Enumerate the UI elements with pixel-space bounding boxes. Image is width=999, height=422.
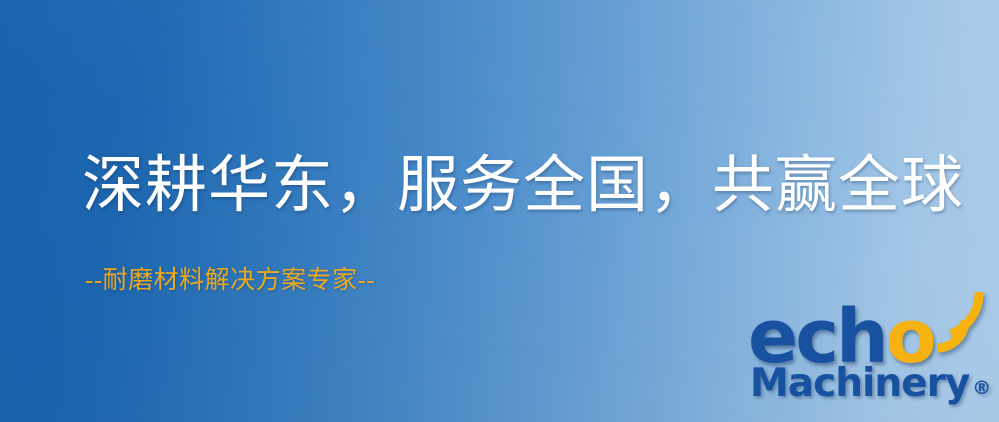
registered-trademark-icon: ® bbox=[972, 377, 991, 399]
echo-machinery-logo: echo Machinery® bbox=[748, 300, 992, 418]
promo-banner: 深耕华东，服务全国，共赢全球 --耐磨材料解决方案专家-- echo Machi… bbox=[0, 0, 999, 422]
echo-wave-icon bbox=[931, 292, 999, 354]
banner-headline: 深耕华东，服务全国，共赢全球 bbox=[82, 148, 964, 224]
logo-subword-text: Machinery bbox=[750, 361, 969, 406]
logo-subword: Machinery® bbox=[750, 363, 991, 409]
banner-subtitle: --耐磨材料解决方案专家-- bbox=[85, 265, 375, 297]
